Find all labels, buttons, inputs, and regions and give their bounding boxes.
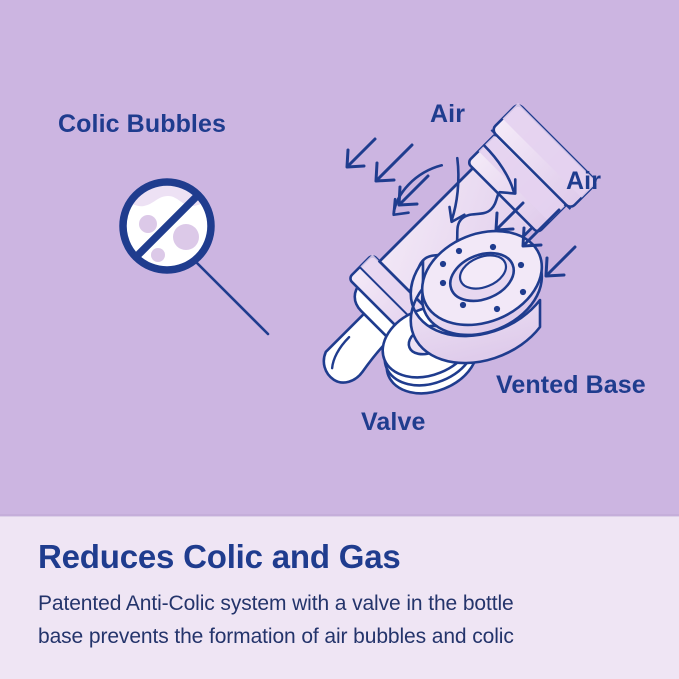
label-vented-base: Vented Base bbox=[496, 371, 646, 400]
leader-line bbox=[196, 262, 268, 334]
label-air-right: Air bbox=[566, 167, 601, 196]
caption-body-line-1: Patented Anti-Colic system with a valve … bbox=[38, 592, 514, 616]
caption-title: Reduces Colic and Gas bbox=[38, 538, 401, 576]
label-valve: Valve bbox=[361, 408, 425, 437]
no-colic-bubbles-icon bbox=[118, 177, 218, 278]
label-air-top: Air bbox=[430, 100, 465, 129]
label-colic-bubbles: Colic Bubbles bbox=[58, 110, 226, 139]
infographic-card: Colic Bubbles Air Air Vented Base Valve … bbox=[0, 0, 679, 679]
caption-body-line-2: base prevents the formation of air bubbl… bbox=[38, 625, 514, 649]
bottle-diagram-svg bbox=[0, 0, 679, 516]
air-flow-arrow-icon bbox=[347, 139, 428, 205]
